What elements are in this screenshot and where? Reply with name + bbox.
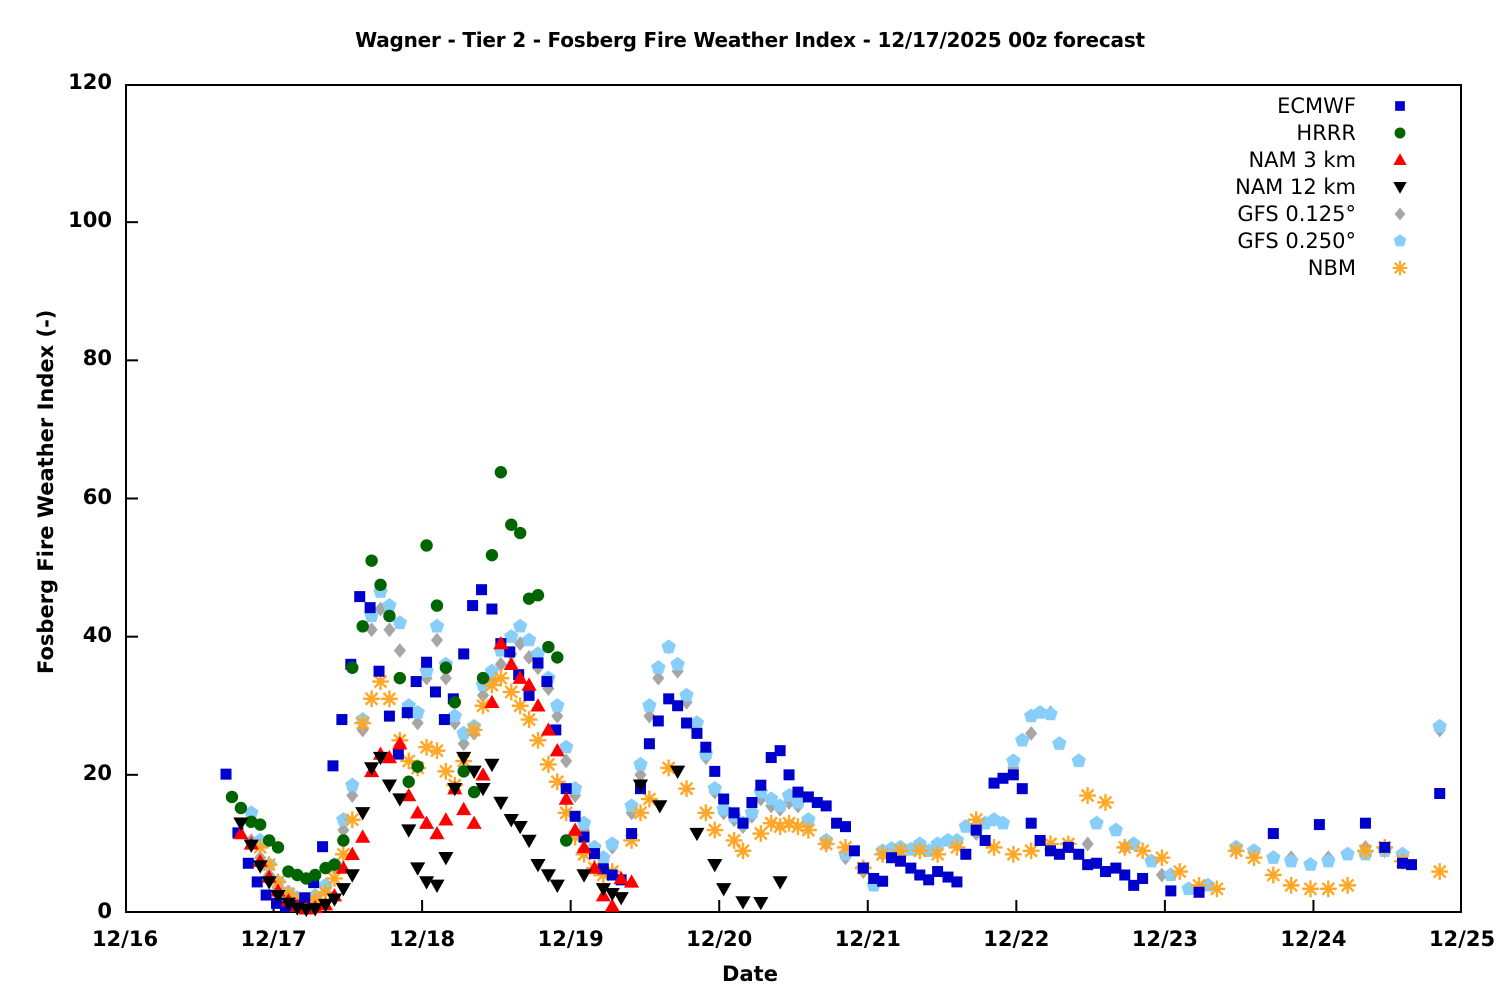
legend-item-nam-12-km[interactable]: NAM 12 km xyxy=(1150,173,1410,200)
legend-label: GFS 0.125° xyxy=(1237,202,1390,226)
x-axis-tick-label: 12/24 xyxy=(1253,927,1373,951)
legend-label: ECMWF xyxy=(1277,94,1390,118)
legend-item-ecmwf[interactable]: ECMWF xyxy=(1150,92,1410,119)
square-marker-icon xyxy=(1390,96,1410,116)
page-title: Wagner - Tier 2 - Fosberg Fire Weather I… xyxy=(0,28,1500,52)
legend-item-nbm[interactable]: NBM xyxy=(1150,254,1410,281)
x-axis-tick-label: 12/21 xyxy=(808,927,928,951)
pentagon-marker-icon xyxy=(1390,231,1410,251)
y-axis-label: Fosberg Fire Weather Index (-) xyxy=(34,309,58,673)
triangle-down-marker-icon xyxy=(1390,177,1410,197)
diamond-marker-icon xyxy=(1390,204,1410,224)
legend-item-nam-3-km[interactable]: NAM 3 km xyxy=(1150,146,1410,173)
x-axis-tick-label: 12/23 xyxy=(1105,927,1225,951)
asterisk-marker-icon xyxy=(1390,258,1410,278)
chart-legend: ECMWFHRRRNAM 3 kmNAM 12 kmGFS 0.125°GFS … xyxy=(1150,92,1410,281)
legend-label: NAM 12 km xyxy=(1235,175,1390,199)
y-axis-tick-label: 20 xyxy=(40,761,112,785)
legend-item-gfs-0-250[interactable]: GFS 0.250° xyxy=(1150,227,1410,254)
y-axis-tick-label: 0 xyxy=(40,899,112,923)
triangle-up-marker-icon xyxy=(1390,150,1410,170)
x-axis-tick-label: 12/18 xyxy=(362,927,482,951)
legend-label: GFS 0.250° xyxy=(1237,229,1390,253)
x-axis-tick-label: 12/17 xyxy=(214,927,334,951)
x-axis-tick-label: 12/16 xyxy=(65,927,185,951)
fosberg-fire-weather-index-chart: Wagner - Tier 2 - Fosberg Fire Weather I… xyxy=(0,0,1500,1000)
legend-label: NBM xyxy=(1308,256,1390,280)
y-axis-tick-label: 100 xyxy=(40,208,112,232)
circle-marker-icon xyxy=(1390,123,1410,143)
x-axis-tick-label: 12/22 xyxy=(956,927,1076,951)
legend-item-gfs-0-125[interactable]: GFS 0.125° xyxy=(1150,200,1410,227)
legend-label: NAM 3 km xyxy=(1248,148,1390,172)
y-axis-tick-label: 120 xyxy=(40,70,112,94)
x-axis-tick-label: 12/20 xyxy=(659,927,779,951)
x-axis-label: Date xyxy=(0,962,1500,986)
legend-label: HRRR xyxy=(1296,121,1390,145)
x-axis-tick-label: 12/25 xyxy=(1402,927,1500,951)
legend-item-hrrr[interactable]: HRRR xyxy=(1150,119,1410,146)
x-axis-tick-label: 12/19 xyxy=(511,927,631,951)
